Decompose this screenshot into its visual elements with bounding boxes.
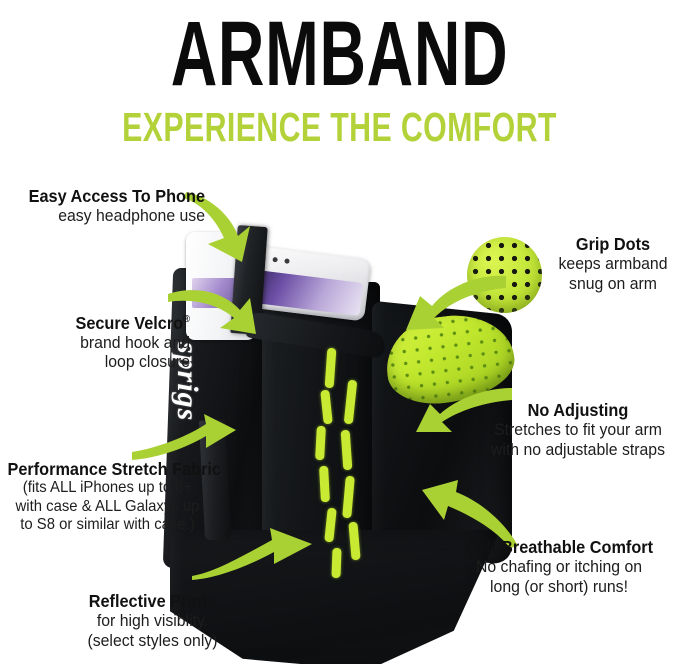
callout-easy-access-title: Easy Access To Phone: [14, 186, 205, 206]
reflective-dash: [319, 466, 330, 502]
phone-sensor-icon: [272, 257, 278, 263]
callout-no-adjusting-title: No Adjusting: [485, 400, 671, 420]
callout-soft-breathable-line-2: long (or short) runs!: [448, 577, 669, 597]
callout-secure-velcro-title: Secure Velcro®: [13, 310, 190, 333]
callout-no-adjusting: No Adjusting Stretches to fit your arm w…: [478, 400, 678, 459]
phone-flash-icon: [284, 258, 290, 264]
callout-secure-velcro-line-1: brand hook and: [13, 333, 190, 353]
callout-stretch-fabric-line-3: to S8 or similar with case.): [8, 516, 208, 535]
callout-soft-breathable-line-1: No chafing or itching on: [448, 557, 669, 577]
callout-no-adjusting-line-2: with no adjustable straps: [485, 440, 671, 460]
callout-reflective-prints-line-1: for high visiblity.: [62, 611, 243, 631]
page-title: ARMBAND: [102, 2, 577, 106]
reflective-dash: [331, 548, 341, 578]
arrow-to-stretch-fabric: [130, 414, 240, 462]
callout-reflective-prints: Reflective Prints for high visiblity. (s…: [55, 591, 250, 650]
callout-stretch-fabric-line-1: (fits ALL iPhones up to 8+: [8, 479, 208, 498]
callout-grip-dots-line-2: snug on arm: [553, 274, 674, 294]
callout-soft-breathable-comfort: Soft Breathable Comfort No chafing or it…: [440, 537, 678, 596]
callout-easy-access: Easy Access To Phone easy headphone use: [0, 186, 205, 226]
callout-reflective-prints-title: Reflective Prints: [62, 591, 243, 611]
callout-no-adjusting-line-1: Stretches to fit your arm: [485, 420, 671, 440]
infographic-canvas: ARMBAND EXPERIENCE THE COMFORT sprigs: [0, 0, 679, 664]
callout-stretch-fabric-line-2: with case & ALL Galaxys up: [8, 498, 208, 517]
page-subtitle: EXPERIENCE THE COMFORT: [88, 104, 590, 150]
arrow-to-grip-dot-lining: [398, 272, 508, 334]
callout-grip-dots-line-1: keeps armband: [553, 254, 674, 274]
registered-trademark-symbol: ®: [183, 314, 190, 325]
callout-reflective-prints-line-2: (select styles only): [62, 631, 243, 651]
callout-grip-dots-title: Grip Dots: [553, 234, 674, 254]
callout-grip-dots: Grip Dots keeps armband snug on arm: [548, 234, 678, 293]
callout-soft-breathable-title: Soft Breathable Comfort: [448, 537, 669, 557]
callout-stretch-fabric-title: Performance Stretch Fabric: [8, 459, 208, 479]
callout-performance-stretch-fabric: Performance Stretch Fabric (fits ALL iPh…: [0, 459, 215, 535]
callout-secure-velcro: Secure Velcro® brand hook and loop closu…: [0, 310, 190, 372]
callout-secure-velcro-line-2: loop closure: [13, 352, 190, 372]
callout-easy-access-line-1: easy headphone use: [14, 206, 205, 226]
reflective-dash: [315, 426, 326, 460]
